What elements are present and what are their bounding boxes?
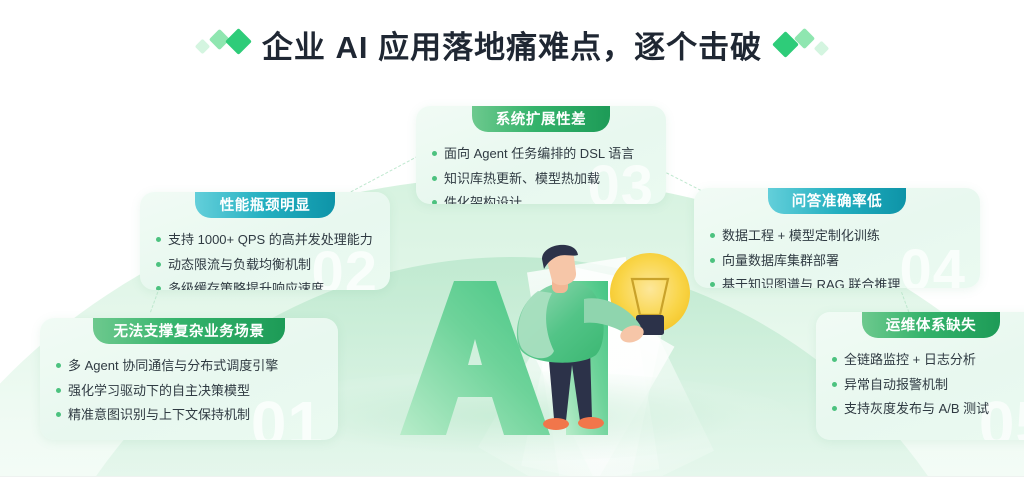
- card-bullet-list: 支持 1000+ QPS 的高并发处理能力 动态限流与负载均衡机制 多级缓存策略…: [140, 218, 390, 290]
- bullet-dot-icon: [156, 286, 161, 290]
- page-title: 企业 AI 应用落地痛难点，逐个击破: [262, 22, 762, 67]
- bullet-dot-icon: [432, 151, 437, 156]
- card-title: 性能瓶颈明显: [195, 192, 335, 218]
- diamond-decor-right-icon: [776, 31, 827, 58]
- diamond-decor-left-icon: [197, 32, 248, 57]
- bullet-text: 件化架构设计: [444, 194, 522, 204]
- shoe-left: [543, 418, 569, 430]
- bullet-dot-icon: [710, 233, 715, 238]
- card-bullet-list: 多 Agent 协同通信与分布式调度引擎 强化学习驱动下的自主决策模型 精准意图…: [40, 344, 338, 436]
- bullet-text: 异常自动报警机制: [844, 376, 948, 394]
- list-item: 知识库热更新、模型热加载: [432, 170, 650, 188]
- bullet-dot-icon: [56, 388, 61, 393]
- bullet-dot-icon: [832, 357, 837, 362]
- list-item: 面向 Agent 任务编排的 DSL 语言: [432, 145, 650, 163]
- issue-card-02[interactable]: 性能瓶颈明显 支持 1000+ QPS 的高并发处理能力 动态限流与负载均衡机制…: [140, 192, 390, 290]
- card-bullet-list: 数据工程 + 模型定制化训练 向量数据库集群部署 基于知识图谱与 RAG 联合推…: [694, 214, 980, 288]
- list-item: 基于知识图谱与 RAG 联合推理: [710, 276, 964, 288]
- bullet-dot-icon: [156, 237, 161, 242]
- bullet-text: 全链路监控 + 日志分析: [844, 351, 976, 369]
- list-item: 向量数据库集群部署: [710, 252, 964, 270]
- bullet-text: 知识库热更新、模型热加载: [444, 170, 600, 188]
- list-item: 异常自动报警机制: [832, 376, 1024, 394]
- bullet-dot-icon: [832, 406, 837, 411]
- card-title: 运维体系缺失: [862, 312, 1000, 338]
- bullet-dot-icon: [56, 363, 61, 368]
- bullet-dot-icon: [710, 282, 715, 287]
- bullet-text: 支持灰度发布与 A/B 测试: [844, 400, 989, 418]
- card-bullet-list: 面向 Agent 任务编排的 DSL 语言 知识库热更新、模型热加载 件化架构设…: [416, 132, 666, 204]
- list-item: 支持 1000+ QPS 的高并发处理能力: [156, 231, 374, 249]
- list-item: 件化架构设计: [432, 194, 650, 204]
- bullet-text: 多级缓存策略提升响应速度: [168, 280, 324, 290]
- bullet-dot-icon: [156, 262, 161, 267]
- list-item: 精准意图识别与上下文保持机制: [56, 406, 322, 424]
- card-title: 系统扩展性差: [472, 106, 610, 132]
- page-title-row: 企业 AI 应用落地痛难点，逐个击破: [0, 22, 1024, 67]
- list-item: 数据工程 + 模型定制化训练: [710, 227, 964, 245]
- bullet-text: 多 Agent 协同通信与分布式调度引擎: [68, 357, 278, 375]
- bullet-dot-icon: [56, 412, 61, 417]
- bullet-text: 数据工程 + 模型定制化训练: [722, 227, 880, 245]
- card-title: 问答准确率低: [768, 188, 906, 214]
- bullet-dot-icon: [710, 258, 715, 263]
- bullet-text: 动态限流与负载均衡机制: [168, 256, 311, 274]
- list-item: 动态限流与负载均衡机制: [156, 256, 374, 274]
- bullet-text: 向量数据库集群部署: [722, 252, 839, 270]
- bullet-text: 支持 1000+ QPS 的高并发处理能力: [168, 231, 373, 249]
- list-item: 全链路监控 + 日志分析: [832, 351, 1024, 369]
- bullet-text: 基于知识图谱与 RAG 联合推理: [722, 276, 900, 288]
- person-with-lightbulb-graphic: [480, 239, 700, 439]
- list-item: 多级缓存策略提升响应速度: [156, 280, 374, 290]
- bullet-text: 强化学习驱动下的自主决策模型: [68, 382, 250, 400]
- list-item: 支持灰度发布与 A/B 测试: [832, 400, 1024, 418]
- bullet-dot-icon: [432, 200, 437, 204]
- bullet-dot-icon: [432, 176, 437, 181]
- bullet-text: 精准意图识别与上下文保持机制: [68, 406, 250, 424]
- issue-card-05[interactable]: 运维体系缺失 全链路监控 + 日志分析 异常自动报警机制 支持灰度发布与 A/B…: [816, 312, 1024, 440]
- issue-card-03[interactable]: 系统扩展性差 面向 Agent 任务编排的 DSL 语言 知识库热更新、模型热加…: [416, 106, 666, 204]
- issue-card-01[interactable]: 无法支撑复杂业务场景 多 Agent 协同通信与分布式调度引擎 强化学习驱动下的…: [40, 318, 338, 440]
- card-bullet-list: 全链路监控 + 日志分析 异常自动报警机制 支持灰度发布与 A/B 测试: [816, 338, 1024, 430]
- shoe-right: [578, 417, 604, 429]
- card-title: 无法支撑复杂业务场景: [93, 318, 285, 344]
- list-item: 多 Agent 协同通信与分布式调度引擎: [56, 357, 322, 375]
- list-item: 强化学习驱动下的自主决策模型: [56, 382, 322, 400]
- issue-card-04[interactable]: 问答准确率低 数据工程 + 模型定制化训练 向量数据库集群部署 基于知识图谱与 …: [694, 188, 980, 288]
- bullet-text: 面向 Agent 任务编排的 DSL 语言: [444, 145, 634, 163]
- bullet-dot-icon: [832, 382, 837, 387]
- infographic-canvas: 企业 AI 应用落地痛难点，逐个击破: [0, 0, 1024, 477]
